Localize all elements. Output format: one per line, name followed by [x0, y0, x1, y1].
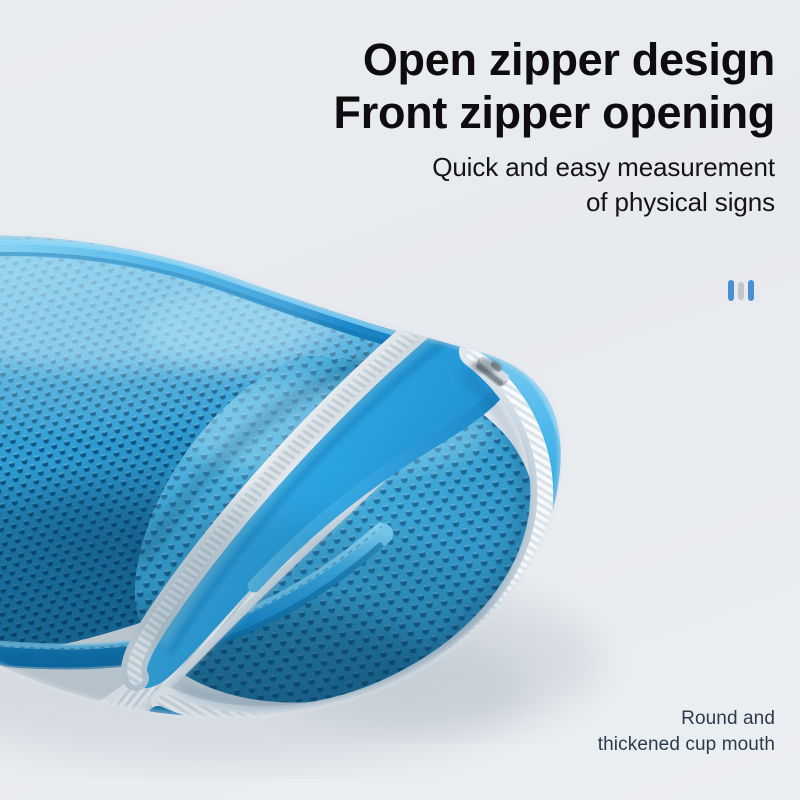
accent-bar-right-icon: [748, 280, 754, 301]
product-marketing-image: Open zipper design Front zipper opening …: [0, 0, 800, 800]
headline-line-1: Open zipper design: [175, 34, 775, 87]
feature-caption: Round and thickened cup mouth: [598, 706, 775, 758]
subheadline-line-1: Quick and easy measurement: [175, 150, 775, 185]
accent-bar-left-icon: [728, 280, 734, 301]
feature-caption-line-1: Round and: [598, 706, 775, 732]
accent-bar-middle-icon: [738, 282, 744, 300]
headline-line-2: Front zipper opening: [175, 87, 775, 140]
subheadline-line-2: of physical signs: [175, 185, 775, 220]
headline-block: Open zipper design Front zipper opening …: [175, 34, 775, 219]
feature-caption-line-2: thickened cup mouth: [598, 732, 775, 758]
three-bar-accent-mark: [728, 280, 754, 301]
